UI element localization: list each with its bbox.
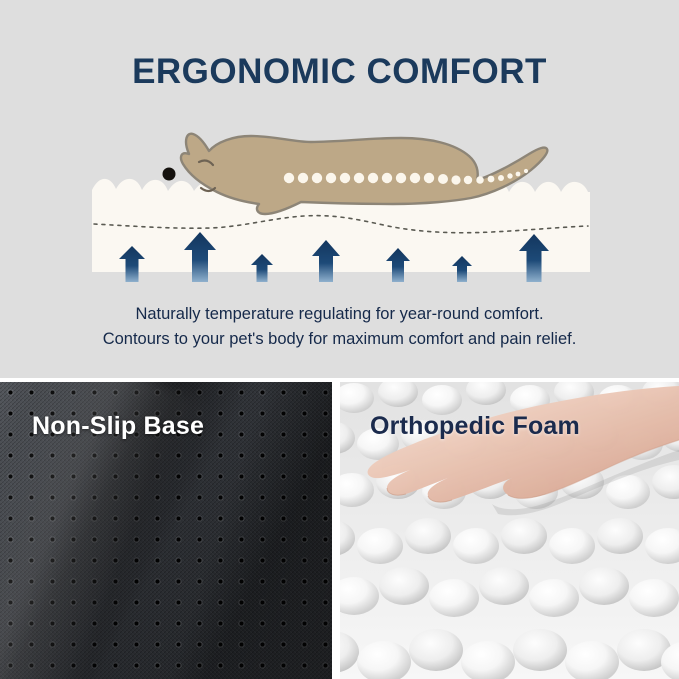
dog-body-shape [181,134,547,214]
hero-panel: ERGONOMIC COMFORT [0,0,679,378]
arrow-4 [312,240,340,282]
hero-description-line-2: Contours to your pet's body for maximum … [0,327,679,352]
vertical-divider [332,382,340,679]
pressure-arrows-group [92,226,590,282]
arrow-1 [119,246,145,282]
arrow-5 [386,248,410,282]
page-title: ERGONOMIC COMFORT [0,52,679,92]
hero-description-line-1: Naturally temperature regulating for yea… [0,302,679,327]
arrow-2 [184,232,216,282]
hero-description: Naturally temperature regulating for yea… [0,302,679,352]
arrow-3 [251,254,273,282]
panel-label-non-slip-base: Non-Slip Base [32,412,204,441]
dog-illustration [125,118,585,236]
panel-orthopedic-foam: Orthopedic Foam [340,382,679,679]
panel-label-orthopedic-foam: Orthopedic Foam [370,412,580,441]
product-feature-infographic: ERGONOMIC COMFORT [0,0,679,679]
dog-nose-icon [163,168,176,181]
arrow-7 [519,234,549,282]
arrow-6 [452,256,472,282]
panel-non-slip-base: Non-Slip Base [0,382,332,679]
